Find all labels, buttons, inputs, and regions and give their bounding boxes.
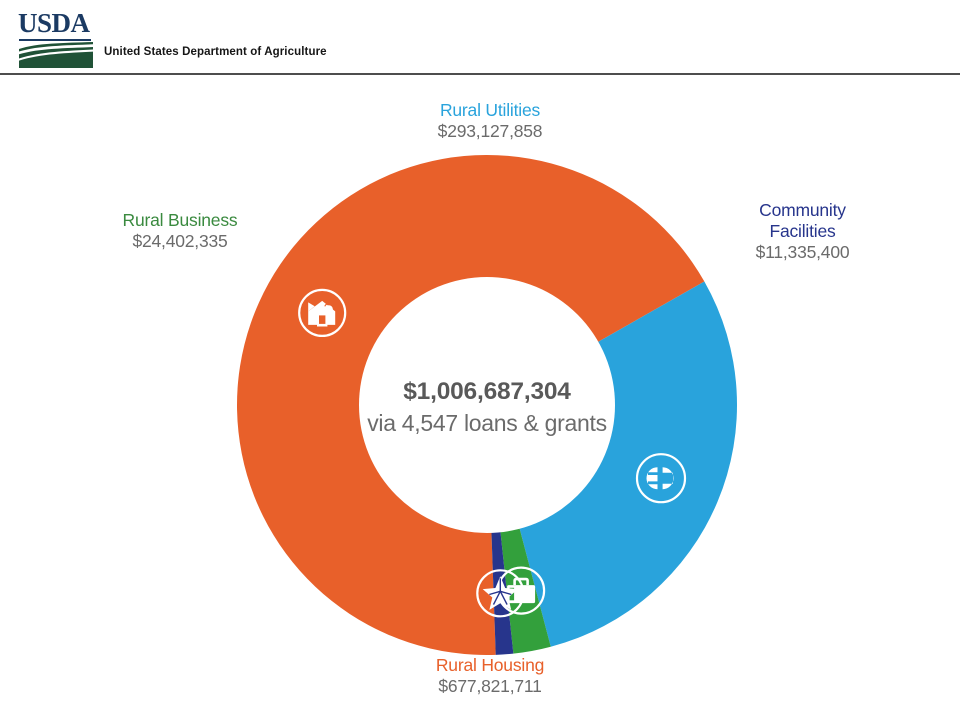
label-community-facilities-category-line1: Community xyxy=(680,200,925,221)
label-rural-housing-category: Rural Housing xyxy=(330,655,650,676)
page-header: USDA United States Department of Agricul… xyxy=(0,0,960,75)
label-rural-utilities: Rural Utilities $293,127,858 xyxy=(330,100,650,142)
label-community-facilities: Community Facilities $11,335,400 xyxy=(680,200,925,263)
label-rural-business: Rural Business $24,402,335 xyxy=(60,210,300,252)
donut-chart-svg xyxy=(237,155,737,655)
label-rural-housing-amount: $677,821,711 xyxy=(330,676,650,697)
label-community-facilities-amount: $11,335,400 xyxy=(680,242,925,263)
label-rural-business-category: Rural Business xyxy=(60,210,300,231)
usda-landscape-graphic xyxy=(19,42,93,68)
donut-center-hole xyxy=(359,277,615,533)
usda-logo-underline xyxy=(19,39,91,41)
donut-chart: $1,006,687,304 via 4,547 loans & grants … xyxy=(0,75,960,720)
label-rural-business-amount: $24,402,335 xyxy=(60,231,300,252)
usda-wordmark: USDA xyxy=(18,10,94,37)
agency-name: United States Department of Agriculture xyxy=(104,46,327,58)
label-community-facilities-category-line2: Facilities xyxy=(680,221,925,242)
label-rural-utilities-category: Rural Utilities xyxy=(330,100,650,121)
usda-logo: USDA xyxy=(18,10,94,62)
label-rural-utilities-amount: $293,127,858 xyxy=(330,121,650,142)
label-rural-housing: Rural Housing $677,821,711 xyxy=(330,655,650,697)
